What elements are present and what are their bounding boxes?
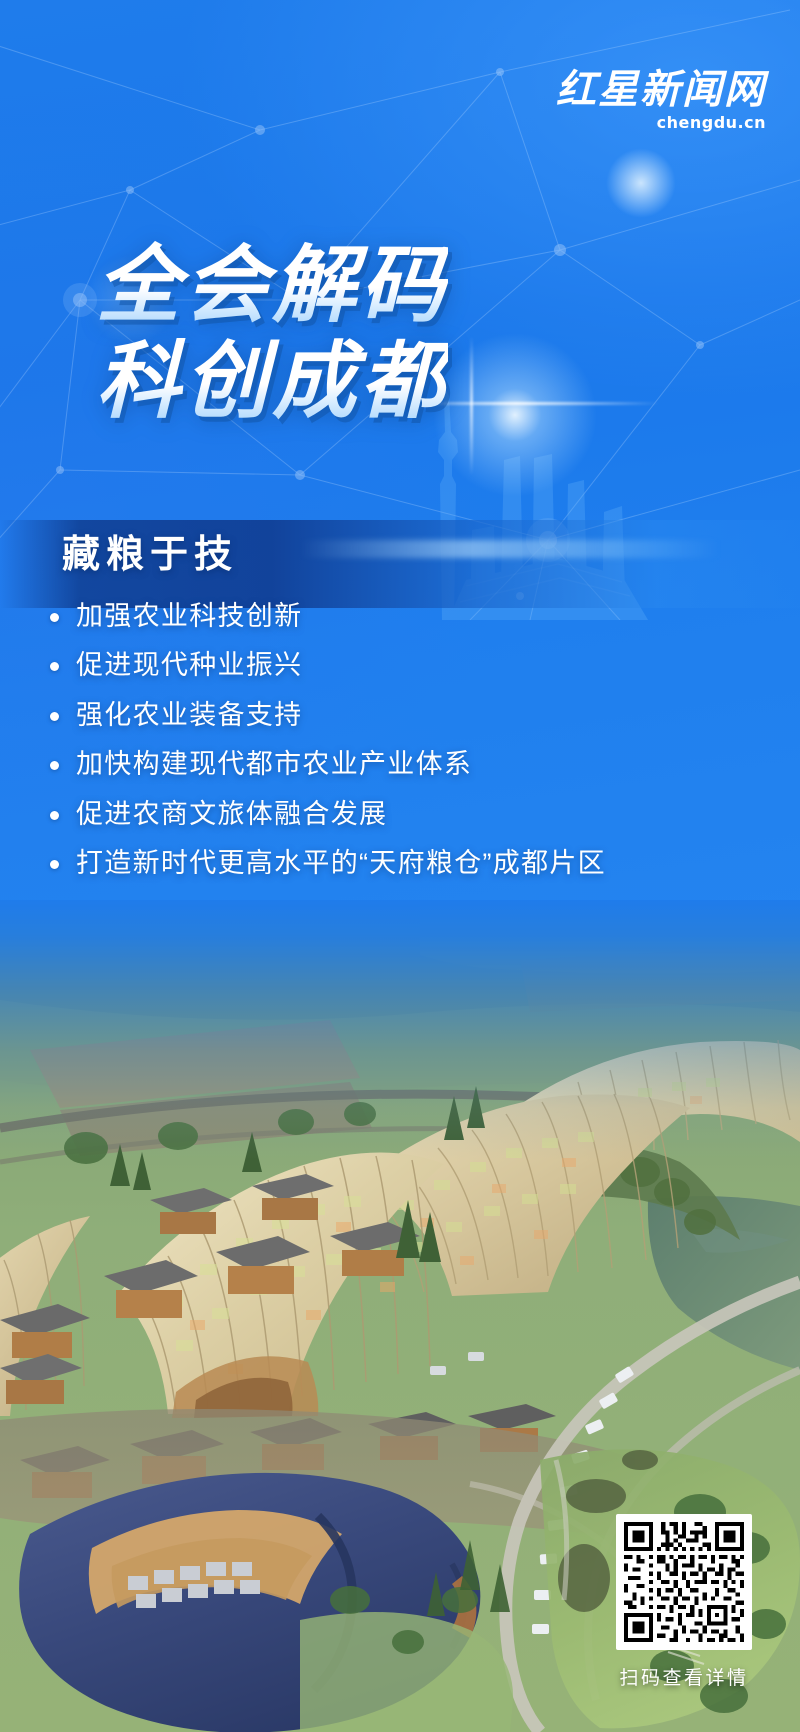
section-subtitle: 藏粮于技 <box>62 526 238 585</box>
list-item: 强化农业装备支持 <box>44 699 764 731</box>
list-item-label: 加强农业科技创新 <box>76 600 302 632</box>
qr-code[interactable] <box>616 1514 752 1650</box>
qr-caption: 扫码查看详情 <box>598 1663 770 1690</box>
title-line-1: 全会解码 <box>96 238 448 334</box>
bullet-dot-icon <box>50 662 59 671</box>
list-item: 打造新时代更高水平的“天府粮仓”成都片区 <box>44 847 764 879</box>
list-item-label: 促进现代种业振兴 <box>76 649 302 681</box>
band-light-streak <box>300 540 720 558</box>
poster-title: 全会解码 科创成都 <box>96 238 448 430</box>
logo-name-en: chengdu.cn <box>556 115 766 131</box>
bullet-dot-icon <box>50 712 59 721</box>
logo-name-cn: 红星新闻网 <box>556 70 766 110</box>
light-streak <box>470 336 473 476</box>
list-item: 加快构建现代都市农业产业体系 <box>44 748 764 780</box>
bullet-dot-icon <box>50 761 59 770</box>
poster: 红星新闻网 chengdu.cn 全会解码 科创成都 藏粮于技 加强农业科技创新… <box>0 0 800 1732</box>
list-item-label: 加快构建现代都市农业产业体系 <box>76 748 472 780</box>
list-item: 促进农商文旅体融合发展 <box>44 798 764 830</box>
bullet-dot-icon <box>50 811 59 820</box>
qr-code-icon <box>624 1522 744 1642</box>
list-item: 加强农业科技创新 <box>44 600 764 632</box>
list-item-label: 促进农商文旅体融合发展 <box>76 798 387 830</box>
title-line-2: 科创成都 <box>96 334 448 430</box>
list-item-label: 打造新时代更高水平的“天府粮仓”成都片区 <box>76 847 606 879</box>
bullet-dot-icon <box>50 613 59 622</box>
bullet-dot-icon <box>50 860 59 869</box>
list-item: 促进现代种业振兴 <box>44 649 764 681</box>
bullet-list: 加强农业科技创新 促进现代种业振兴 强化农业装备支持 加快构建现代都市农业产业体… <box>44 600 764 896</box>
qr-block[interactable]: 扫码查看详情 <box>598 1514 770 1690</box>
list-item-label: 强化农业装备支持 <box>76 699 302 731</box>
site-logo[interactable]: 红星新闻网 chengdu.cn <box>556 70 766 131</box>
photo-blue-blend-overlay <box>0 900 800 1160</box>
